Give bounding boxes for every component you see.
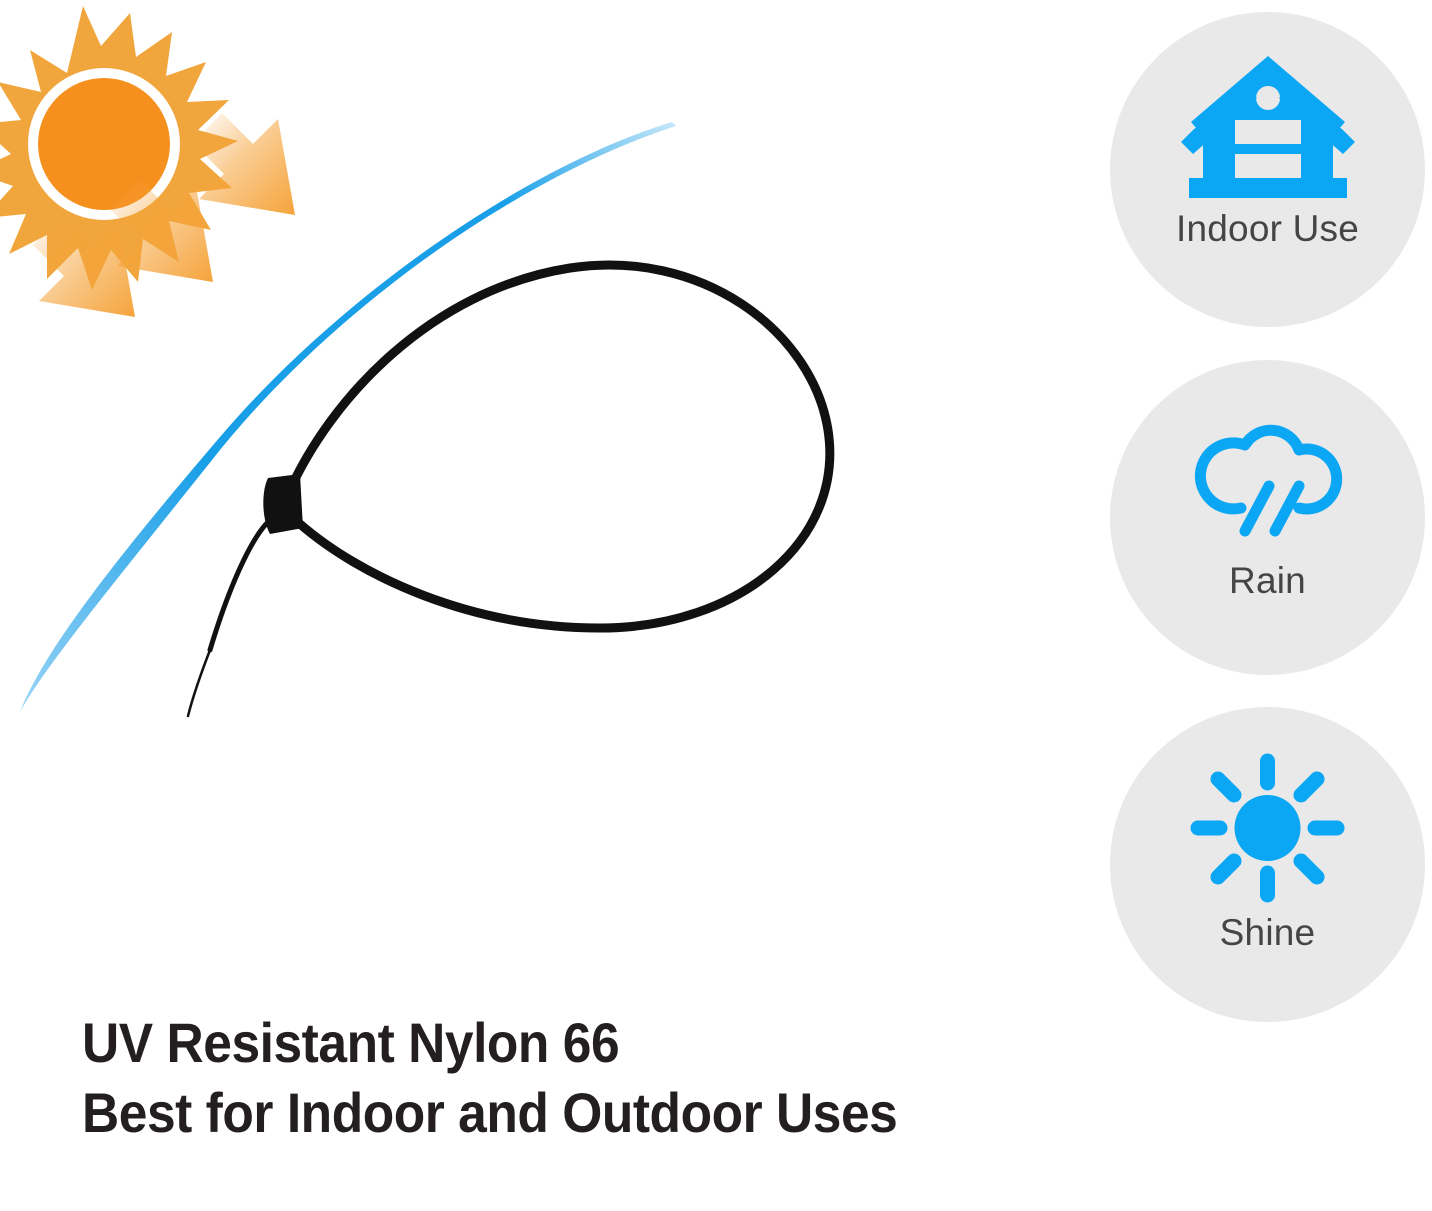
badge-rain[interactable]: Rain bbox=[1110, 360, 1425, 675]
page-title: UV Resistant Nylon 66 Best for Indoor an… bbox=[82, 1008, 1082, 1148]
sun-shine-icon bbox=[1190, 755, 1345, 900]
heading-line-2: Best for Indoor and Outdoor Uses bbox=[82, 1078, 1002, 1148]
badge-indoor-use[interactable]: Indoor Use bbox=[1110, 12, 1425, 327]
uv-resistance-illustration bbox=[0, 0, 1060, 1000]
heading-line-1: UV Resistant Nylon 66 bbox=[82, 1008, 1002, 1078]
zip-tie-head bbox=[263, 474, 303, 534]
badge-label-shine: Shine bbox=[1220, 914, 1316, 951]
house-icon bbox=[1173, 54, 1363, 204]
badge-shine[interactable]: Shine bbox=[1110, 707, 1425, 1022]
feature-badge-list: Indoor Use Rain bbox=[1110, 0, 1432, 1040]
badge-label-indoor-use: Indoor Use bbox=[1176, 210, 1359, 247]
badge-label-rain: Rain bbox=[1229, 562, 1306, 599]
product-feature-graphic: Indoor Use Rain bbox=[0, 0, 1432, 1211]
rain-cloud-icon bbox=[1183, 408, 1353, 548]
uv-ray-arrow-1 bbox=[193, 113, 295, 215]
